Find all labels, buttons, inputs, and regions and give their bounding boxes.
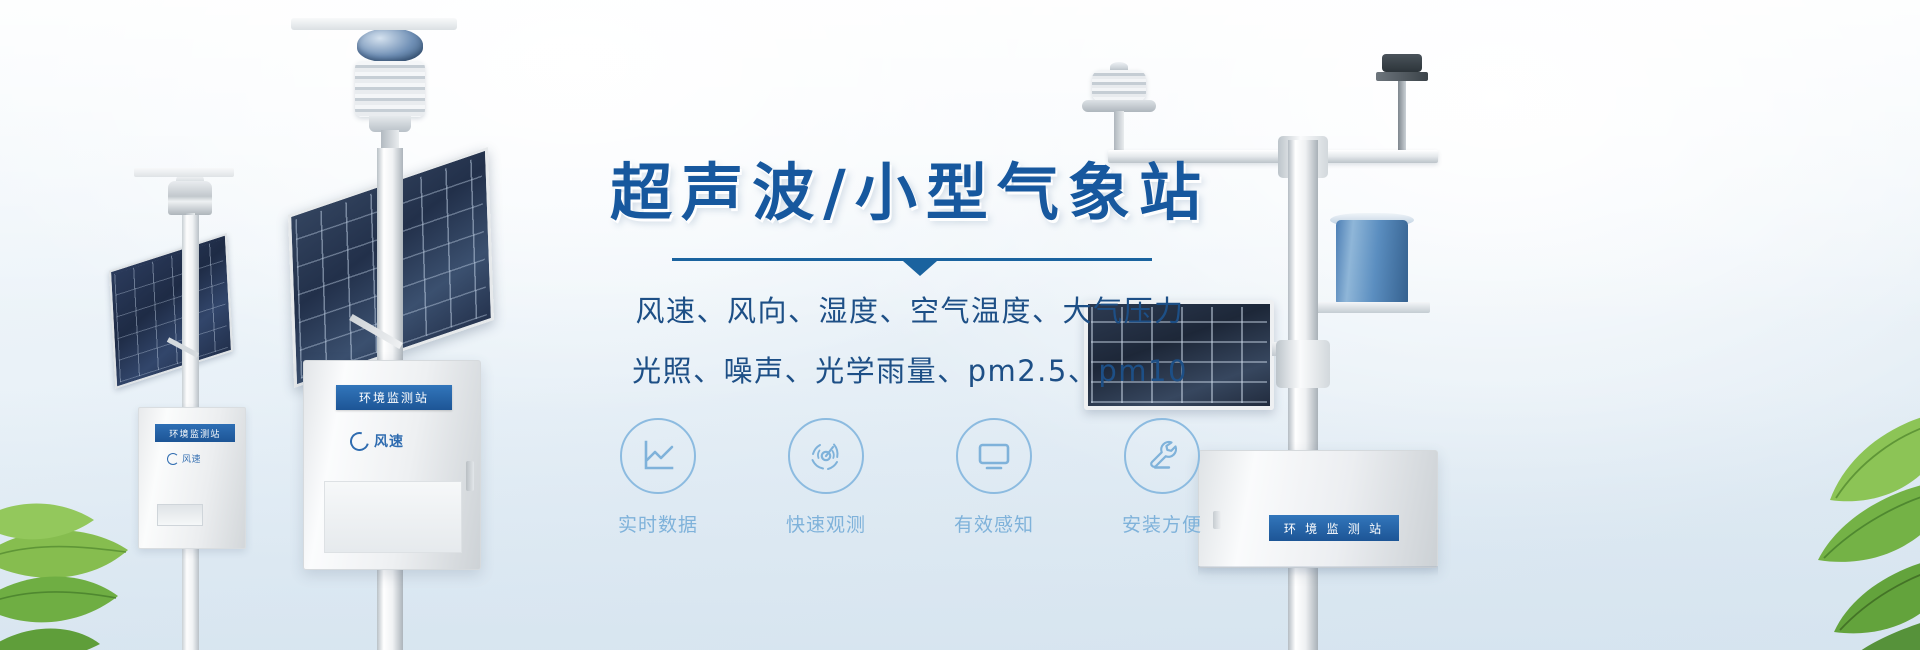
radar-wave-icon	[804, 434, 848, 478]
total-radiation-dome-sensor	[357, 28, 423, 62]
feature-item-fast-observation[interactable]: 快速观测	[770, 418, 882, 537]
brand-mark-icon	[347, 428, 373, 454]
feature-label: 快速观测	[770, 510, 882, 537]
feature-list: 实时数据	[554, 418, 1266, 537]
brand-logo-text: 风速	[374, 431, 404, 451]
feature-label: 安装方便	[1106, 510, 1218, 537]
feature-icon-circle	[956, 418, 1032, 494]
cabinet-label: 环境监测站	[155, 424, 235, 442]
feature-icon-circle	[620, 418, 696, 494]
cabinet-door	[324, 481, 462, 553]
brand-logo: 风速	[167, 452, 223, 465]
equipment-cabinet: 环境监测站 风速	[303, 360, 481, 570]
solar-panel	[109, 233, 233, 389]
cabinet-top	[134, 168, 234, 177]
line-chart-icon	[636, 434, 680, 478]
feature-item-realtime-data[interactable]: 实时数据	[602, 418, 714, 537]
weather-station-main-left: 环境监测站 风速	[285, 28, 500, 650]
cabinet-latch	[466, 461, 474, 491]
equipment-cabinet: 环境监测站 风速	[138, 407, 246, 549]
radiation-shield-sensor	[168, 181, 212, 215]
feature-item-easy-installation[interactable]: 安装方便	[1106, 418, 1218, 537]
radiation-shield	[355, 61, 425, 117]
brand-logo: 风速	[350, 431, 444, 451]
banner-subtitle-line-1: 风速、风向、湿度、空气温度、大气压力	[530, 288, 1290, 330]
feature-item-effective-sensing[interactable]: 有效感知	[938, 418, 1050, 537]
weather-station-small-left: 环境监测站 风速	[130, 175, 250, 650]
product-banner: 环境监测站 风速 环境监测站 风速	[0, 0, 1920, 650]
feature-icon-circle	[788, 418, 864, 494]
cabinet-vent	[157, 504, 203, 526]
cabinet-label: 环境监测站	[336, 385, 452, 410]
feature-icon-circle	[1124, 418, 1200, 494]
feature-label: 实时数据	[602, 510, 714, 537]
brand-logo-text: 风速	[182, 452, 201, 465]
rain-gauge-shelf	[1318, 302, 1430, 313]
monitor-icon	[972, 434, 1016, 478]
divider-triangle-icon	[903, 261, 937, 276]
cabinet-top	[291, 18, 457, 30]
wind-vane-head	[1382, 54, 1422, 72]
banner-subtitle-line-2: 光照、噪声、光学雨量、pm2.5、pm10	[530, 348, 1290, 390]
leaf-decoration-right	[1700, 360, 1920, 650]
wrench-icon	[1140, 434, 1184, 478]
wind-vane-fin	[1376, 72, 1428, 81]
feature-label: 有效感知	[938, 510, 1050, 537]
banner-headline: 超声波/小型气象站	[530, 142, 1290, 232]
banner-text-content: 超声波/小型气象站 风速、风向、湿度、空气温度、大气压力 光照、噪声、光学雨量、…	[530, 0, 1290, 650]
optical-rain-gauge	[1336, 220, 1408, 304]
brand-mark-icon	[167, 453, 179, 465]
divider-with-arrow	[672, 258, 1152, 272]
